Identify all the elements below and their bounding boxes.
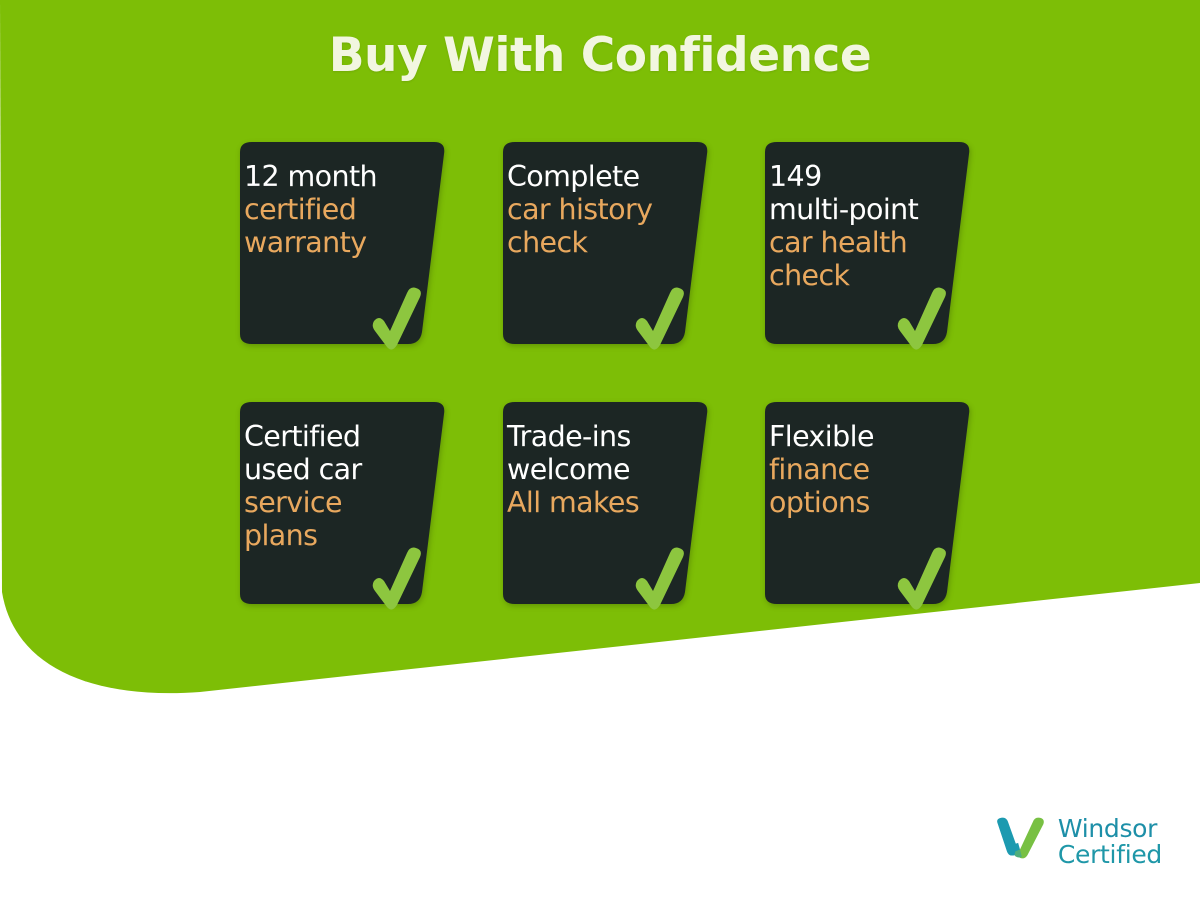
card-text-block: Trade-ins welcome All makes <box>507 420 687 519</box>
benefits-row-2: Certified used car service plans Trade-i… <box>226 400 986 630</box>
poster-canvas: Buy With Confidence 12 month certified w… <box>0 0 1200 900</box>
card-line-white: Trade-ins <box>507 420 687 453</box>
benefit-card-service-plans[interactable]: Certified used car service plans <box>226 400 448 607</box>
card-text-block: 12 month certified warranty <box>244 160 424 259</box>
card-line-white: 12 month <box>244 160 424 193</box>
benefits-row-1: 12 month certified warranty Complete car… <box>226 140 986 400</box>
card-line-white: multi-point <box>769 193 949 226</box>
card-line-white: Certified <box>244 420 424 453</box>
card-line-orange: finance <box>769 453 949 486</box>
card-line-orange: check <box>507 226 687 259</box>
card-line-orange: service <box>244 486 424 519</box>
card-text-block: Certified used car service plans <box>244 420 424 552</box>
page-title: Buy With Confidence <box>0 28 1200 83</box>
card-line-orange: certified <box>244 193 424 226</box>
logo-wordmark: Windsor Certified <box>1058 816 1162 869</box>
check-icon <box>368 285 426 355</box>
check-icon <box>368 545 426 615</box>
card-text-block: Flexible finance options <box>769 420 949 519</box>
card-line-white: welcome <box>507 453 687 486</box>
check-icon <box>893 285 951 355</box>
windsor-w-icon <box>992 814 1048 870</box>
logo-line-windsor: Windsor <box>1058 816 1162 843</box>
card-line-white: 149 <box>769 160 949 193</box>
benefit-card-certified-warranty[interactable]: 12 month certified warranty <box>226 140 448 347</box>
check-icon <box>893 545 951 615</box>
card-line-orange: All makes <box>507 486 687 519</box>
benefit-card-trade-ins[interactable]: Trade-ins welcome All makes <box>489 400 711 607</box>
card-line-orange: car history <box>507 193 687 226</box>
check-icon <box>631 545 689 615</box>
check-icon <box>631 285 689 355</box>
card-text-block: 149 multi-point car health check <box>769 160 949 292</box>
card-line-orange: car health <box>769 226 949 259</box>
windsor-certified-logo[interactable]: Windsor Certified <box>992 814 1162 870</box>
benefit-card-car-health-check[interactable]: 149 multi-point car health check <box>751 140 973 347</box>
logo-line-certified: Certified <box>1058 842 1162 869</box>
card-line-orange: warranty <box>244 226 424 259</box>
benefits-grid: 12 month certified warranty Complete car… <box>226 140 986 630</box>
benefit-card-finance-options[interactable]: Flexible finance options <box>751 400 973 607</box>
benefit-card-car-history-check[interactable]: Complete car history check <box>489 140 711 347</box>
card-line-orange: options <box>769 486 949 519</box>
card-line-white: Complete <box>507 160 687 193</box>
card-line-white: Flexible <box>769 420 949 453</box>
card-text-block: Complete car history check <box>507 160 687 259</box>
card-line-white: used car <box>244 453 424 486</box>
